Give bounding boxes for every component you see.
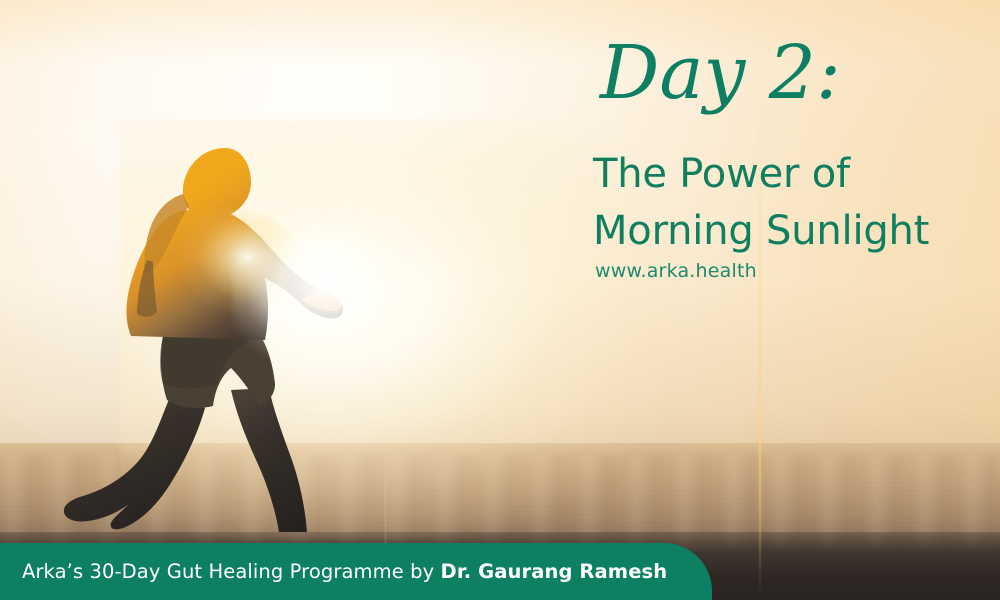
social-graphic-canvas: Day 2: The Power of Morning Sunlight www… (0, 0, 1000, 600)
website-url: www.arka.health (595, 260, 757, 282)
banner-doctor-name: Dr. Gaurang Ramesh (441, 560, 668, 583)
day-eyebrow-script: Day 2: (596, 18, 926, 123)
bottom-banner: Arka’s 30-Day Gut Healing Programme by D… (0, 543, 712, 600)
banner-programme-label: Arka’s 30-Day Gut Healing Programme by (22, 560, 441, 583)
runner-back-leg (64, 390, 205, 529)
day-eyebrow-text: Day 2: (598, 30, 841, 116)
text-overlay-column: Day 2: The Power of Morning Sunlight www… (588, 0, 988, 600)
sun-core-highlight (232, 210, 412, 360)
page-title: The Power of Morning Sunlight (593, 146, 988, 260)
banner-credit-line: Arka’s 30-Day Gut Healing Programme by D… (22, 543, 667, 600)
runner-front-leg (231, 388, 307, 532)
